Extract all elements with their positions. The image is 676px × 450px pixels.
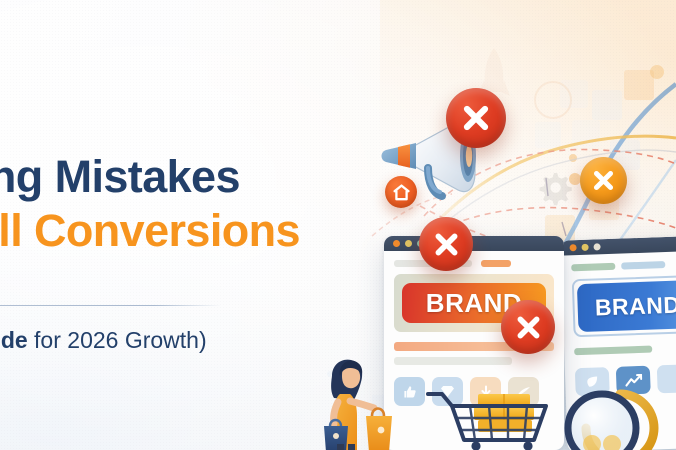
- skeleton-bar: [621, 261, 665, 270]
- headline-divider: [0, 305, 221, 306]
- x-badge-left-window: [419, 217, 473, 271]
- woman-shopper: [316, 356, 426, 450]
- home-badge: [385, 176, 417, 208]
- hero-banner: BRAND: [0, 0, 676, 450]
- skeleton-bar: [574, 346, 652, 356]
- headline-line-1: Branding Mistakes: [0, 150, 370, 204]
- shopping-cart: [418, 388, 558, 450]
- window-body-right: BRAND: [561, 250, 676, 396]
- x-badge-amber: [580, 157, 627, 204]
- subtitle-suffix: for 2026 Growth): [28, 327, 207, 353]
- brand-badge-right: BRAND: [577, 280, 676, 332]
- window-dot-green: [593, 243, 600, 250]
- close-icon: [460, 102, 492, 134]
- x-badge-top: [446, 88, 506, 148]
- home-icon: [393, 184, 410, 201]
- window-dot-red: [393, 240, 400, 247]
- window-dot-yellow: [405, 240, 412, 247]
- close-icon: [591, 168, 616, 193]
- x-badge-brand: [501, 300, 555, 354]
- skeleton-bar: [571, 263, 615, 272]
- window-dot-yellow: [581, 244, 588, 251]
- subtitle: (Complete Guide for 2026 Growth): [0, 325, 370, 355]
- window-titlebar-left: [384, 236, 564, 251]
- magnifying-glass: [556, 382, 676, 450]
- skeleton-bar: [481, 260, 511, 267]
- orange-shopping-bag: [366, 409, 392, 450]
- close-icon: [432, 230, 461, 259]
- subtitle-bold: Guide: [0, 327, 28, 353]
- headline-block: Branding Mistakes That Kill Conversions: [0, 150, 370, 258]
- headline-line-2: That Kill Conversions: [0, 204, 370, 258]
- close-icon: [514, 313, 543, 342]
- window-dot-red: [569, 244, 576, 251]
